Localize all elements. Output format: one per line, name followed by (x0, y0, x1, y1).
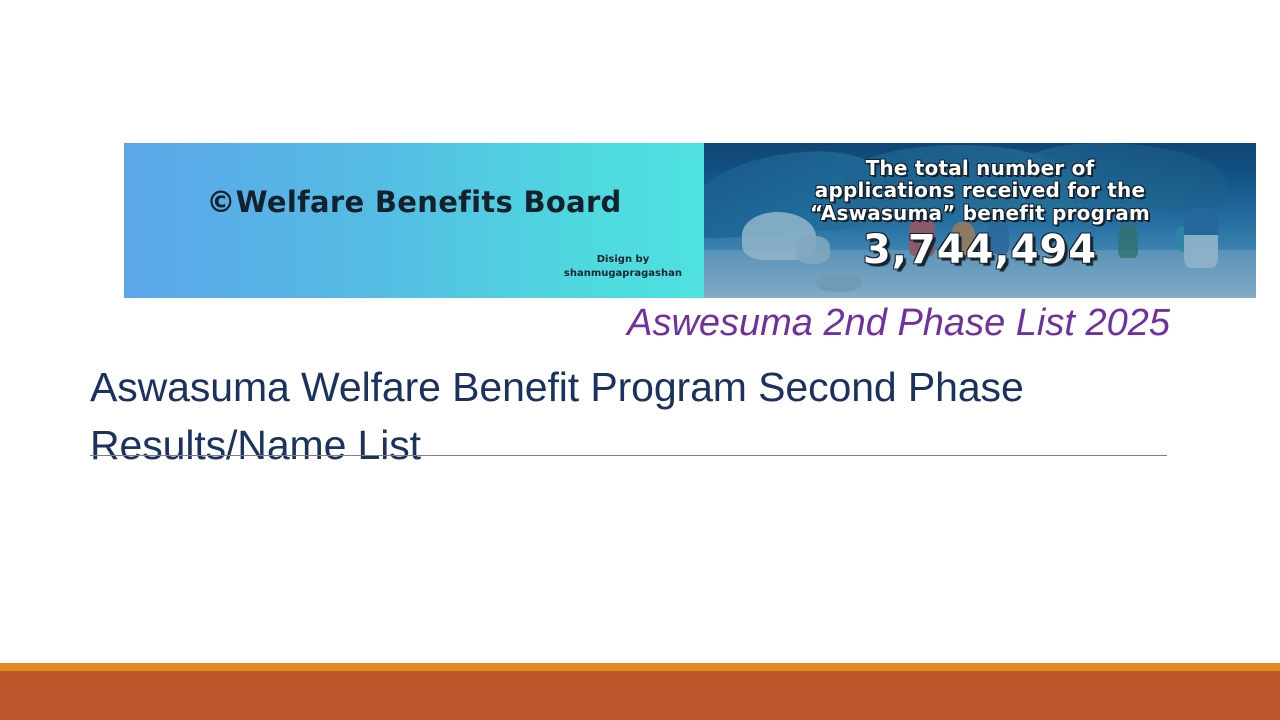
designer-credit-line-1: Disign by (564, 253, 682, 267)
banner-caption-line-2: applications received for the (704, 179, 1256, 201)
designer-credit-line-2: shanmugapragashan (564, 267, 682, 281)
slide-subtitle: Aswesuma 2nd Phase List 2025 (90, 302, 1170, 345)
footer-band (0, 671, 1280, 720)
welfare-benefits-board-brand-text: ©Welfare Benefits Board (124, 185, 704, 219)
title-divider (90, 455, 1167, 456)
total-applications-figure: 3,744,494 (704, 227, 1256, 273)
banner-right-panel: The total number of applications receive… (704, 143, 1256, 298)
banner-caption-line-3: “Aswasuma” benefit program (704, 202, 1256, 224)
banner-caption: The total number of applications receive… (704, 157, 1256, 224)
footer-accent-stripe (0, 663, 1280, 671)
banner-image: ©Welfare Benefits Board Disign by shanmu… (124, 143, 1256, 298)
banner-caption-line-1: The total number of (704, 157, 1256, 179)
presentation-slide: ©Welfare Benefits Board Disign by shanmu… (0, 0, 1280, 720)
banner-left-panel: ©Welfare Benefits Board Disign by shanmu… (124, 143, 704, 298)
page-title: Aswasuma Welfare Benefit Program Second … (90, 358, 1170, 474)
designer-credit: Disign by shanmugapragashan (564, 253, 682, 280)
